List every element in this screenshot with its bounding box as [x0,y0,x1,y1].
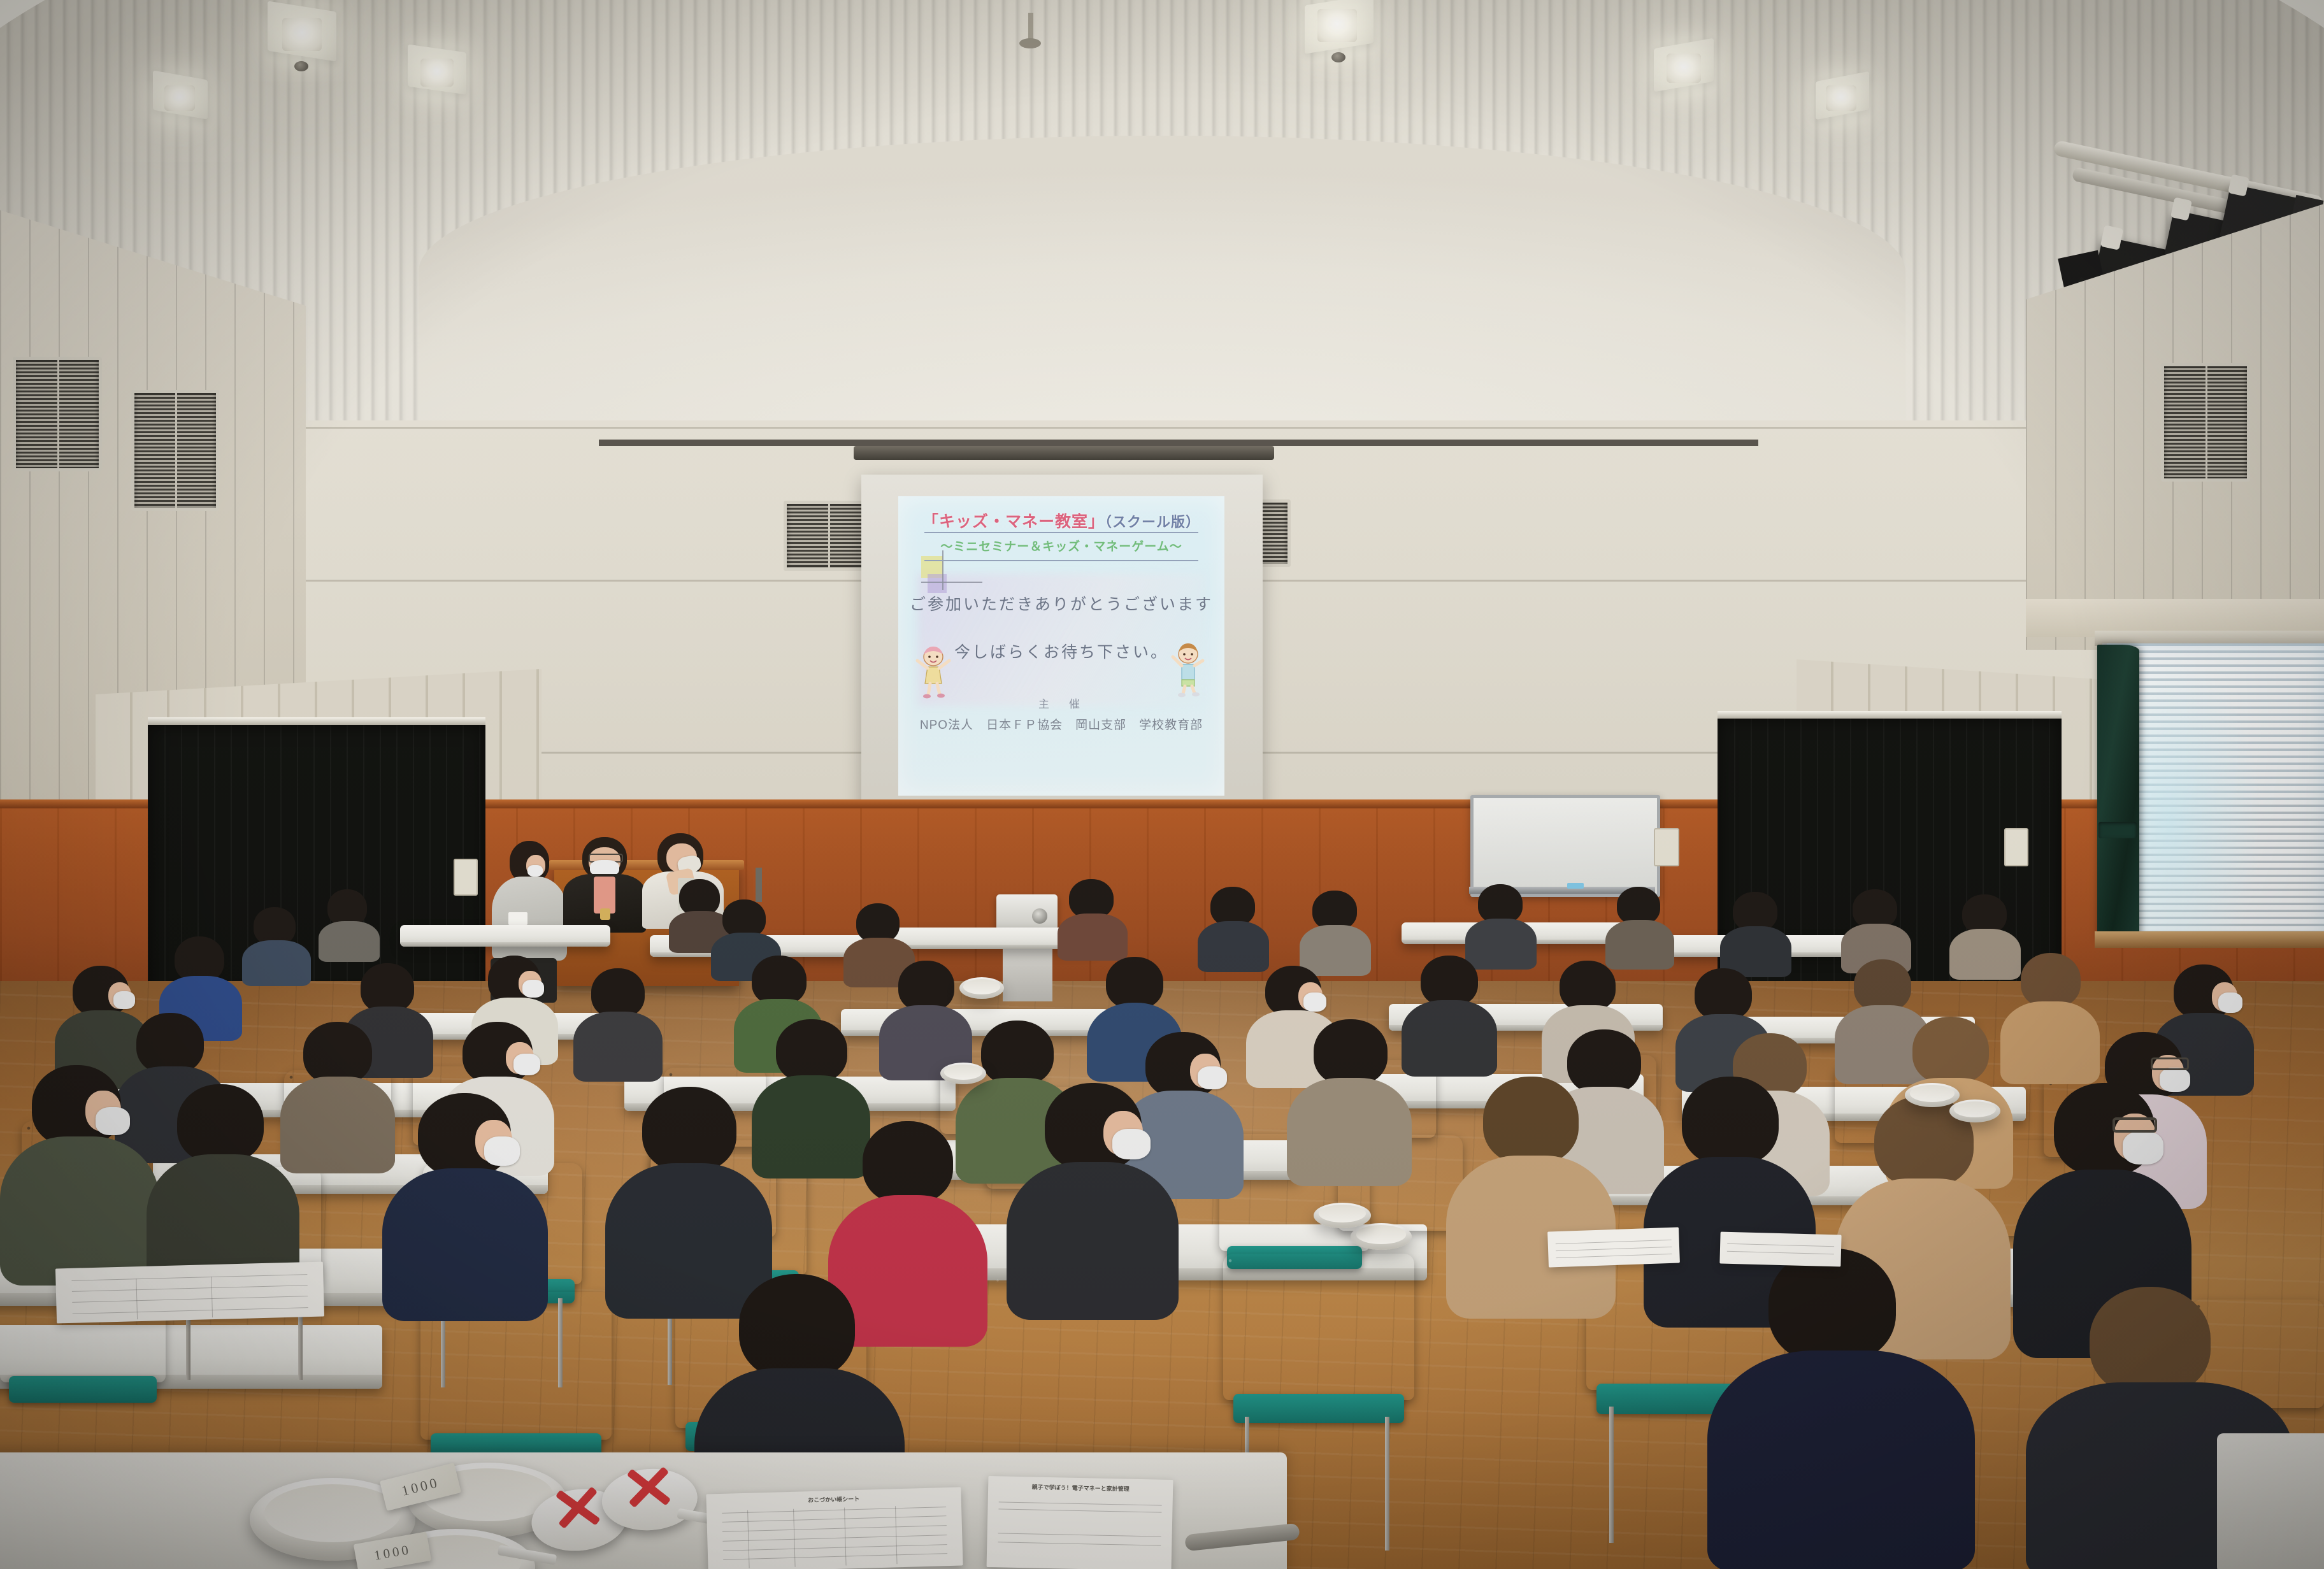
audience-member [1446,1077,1616,1311]
audience-member [1707,1249,1975,1567]
wall-outlet-plate[interactable] [2004,828,2028,866]
table-row [400,925,610,947]
boy-waving-icon [1168,641,1208,700]
slide-host-label: 主 催 [898,695,1224,711]
ceiling-light [1317,9,1357,42]
slide-title-main: 「キッズ・マネー教室」 [922,513,1105,531]
glasses-icon [2151,1057,2189,1070]
worksheet[interactable] [55,1262,324,1324]
slide-decor-line-v [942,550,943,590]
audience-member [1058,879,1128,958]
audience-member [1007,1083,1179,1312]
projector-icon [996,894,1058,931]
projector-lens [1032,908,1047,924]
audience-member [0,1065,159,1282]
chair[interactable] [1223,1254,1414,1400]
slide-decor-square-purple [928,574,947,593]
paper-bowl[interactable] [1949,1100,2000,1122]
audience-member [1300,891,1371,973]
audience-member [573,968,663,1078]
lanyard-badge [600,908,610,920]
curtain-tieback[interactable] [2098,822,2137,838]
screen-mount-bar [599,440,1758,446]
foreground-table-right [2217,1433,2324,1569]
wall-vent-icon [131,390,219,511]
slide-title-underline [924,532,1198,533]
worksheet[interactable] [1719,1232,1841,1267]
ledger-worksheet[interactable]: おこづかい帳シート [706,1487,963,1569]
window-sill [2095,931,2324,948]
slide-title: 「キッズ・マネー教室」（スクール版） [898,509,1224,532]
audience-member [1465,884,1537,967]
ceiling [0,0,2324,484]
slide-subtitle: ～ミニセミナー＆キッズ・マネーゲーム～ [898,537,1224,554]
handout-title: 親子で学ぼう！電子マネーと家計管理 [988,1482,1173,1494]
wall-vent-icon [784,501,873,571]
wall-vent-icon [2161,363,2250,482]
ceiling-light [282,18,322,51]
projection-screen-roller [854,446,1274,460]
slide-decor-line-h [921,582,982,583]
audience-member [1402,956,1497,1073]
audience-member [319,889,380,959]
slide-subtitle-underline [924,560,1198,561]
audience-member [1198,887,1269,970]
wall-outlet-plate[interactable] [454,859,478,896]
projection-screen: 「キッズ・マネー教室」（スクール版） ～ミニセミナー＆キッズ・マネーゲーム～ ご… [861,475,1263,843]
wall-outlet-plate[interactable] [1654,828,1679,866]
wall-mic-cable [756,868,762,902]
audience-member [1841,889,1911,971]
slide-message-line1: ご参加いただきありがとうございます [898,592,1224,615]
ceiling-light [1826,85,1856,111]
audience-member [1287,1019,1412,1182]
slide-title-suffix: （スクール版） [1105,514,1200,530]
x-mark-paddle[interactable] [600,1466,701,1555]
presentation-slide: 「キッズ・マネー教室」（スクール版） ～ミニセミナー＆キッズ・マネーゲーム～ ご… [898,496,1224,796]
ceiling-hanger-plate [1019,38,1041,48]
girl-cheering-icon [914,644,953,703]
whiteboard[interactable] [1470,795,1660,897]
audience-member [1720,892,1791,975]
paper-bowl[interactable] [959,977,1004,999]
seminar-room-photo: 「キッズ・マネー教室」（スクール版） ～ミニセミナー＆キッズ・マネーゲーム～ ご… [0,0,2324,1569]
audience-member [382,1093,548,1316]
paper-bowl[interactable] [1351,1223,1412,1250]
slide-host-org: NPO法人 日本ＦＰ協会 岡山支部 学校教育部 [898,715,1224,733]
ceiling-downlight-icon [1331,52,1345,62]
audience-member [242,907,311,984]
ceiling-light [164,85,195,111]
window-curtain[interactable] [2097,645,2139,939]
ledger-worksheet-title: おこづかい帳シート [707,1492,961,1507]
paper-bowl[interactable] [1905,1083,1960,1107]
paper-bowl[interactable] [940,1063,986,1084]
ceiling-downlight-icon [294,61,308,71]
worksheet[interactable] [1547,1227,1680,1267]
ceiling-light [1667,54,1701,83]
presenter-center [563,837,646,933]
name-badge [508,912,527,925]
handout[interactable]: 親子で学ぼう！電子マネーと家計管理 [987,1476,1173,1569]
whiteboard-magnet[interactable] [1567,883,1584,889]
wall-vent-icon [13,357,102,471]
paper-bowl[interactable] [1314,1203,1371,1228]
audience-member [1605,887,1674,967]
ceiling-light [420,59,454,87]
glasses-icon [2112,1117,2157,1133]
